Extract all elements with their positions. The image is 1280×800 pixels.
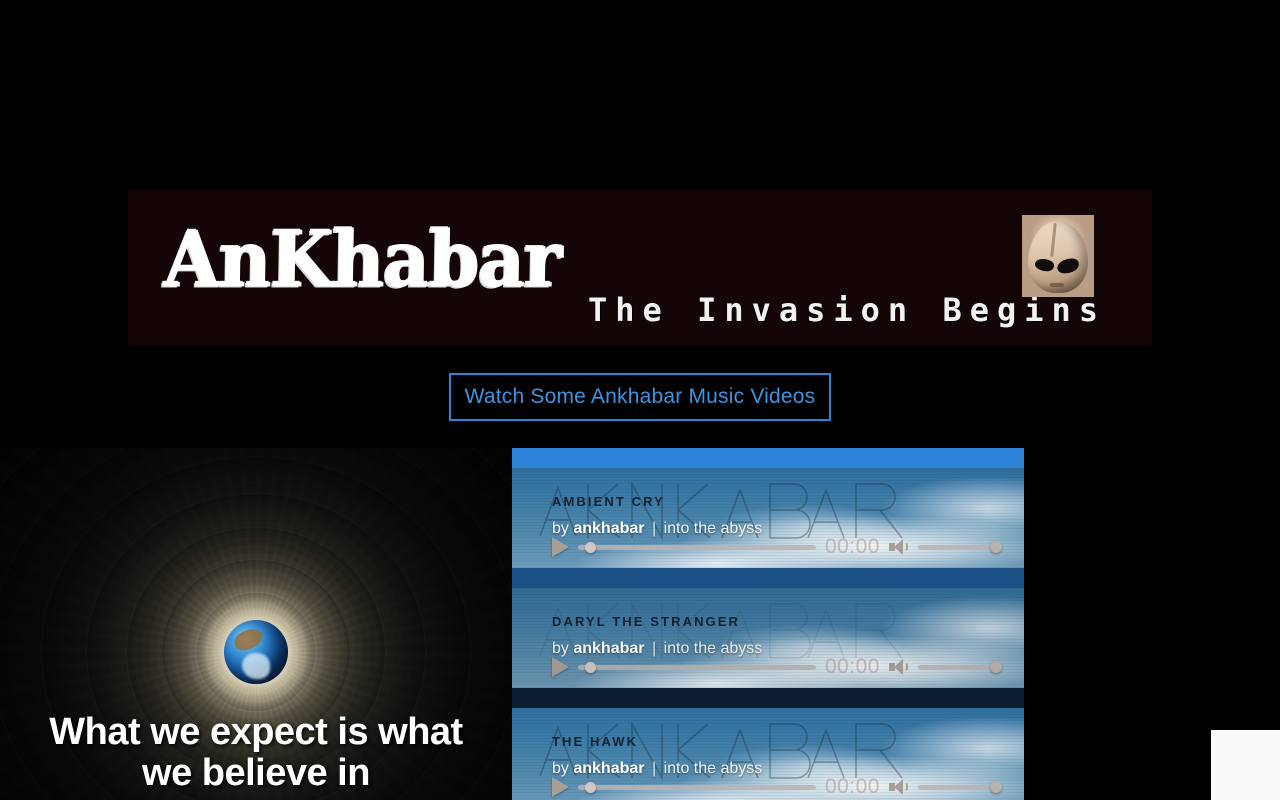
volume-rail: [918, 545, 996, 550]
player-controls: 00:00: [552, 774, 1002, 800]
time-display: 00:00: [825, 655, 880, 679]
volume-slider[interactable]: [918, 659, 1002, 675]
player-controls: 00:00: [552, 534, 1002, 560]
volume-icon-cone: [894, 539, 903, 555]
seek-slider[interactable]: [578, 658, 816, 676]
watch-music-videos-label: Watch Some Ankhabar Music Videos: [465, 385, 816, 409]
player-card: AMBIENT CRY by ankhabar | into the abyss…: [512, 448, 1024, 568]
volume-icon-wave: [904, 783, 908, 791]
music-player-list: AMBIENT CRY by ankhabar | into the abyss…: [512, 448, 1024, 800]
volume-knob[interactable]: [990, 541, 1002, 553]
player-body: THE HAWK by ankhabar | into the abyss 00…: [512, 708, 1024, 800]
volume-rail: [918, 665, 996, 670]
player-body: DARYL THE STRANGER by ankhabar | into th…: [512, 588, 1024, 688]
play-icon[interactable]: [552, 777, 569, 797]
player-topbar: [512, 568, 1024, 588]
volume-icon-wave: [904, 543, 908, 551]
player-topbar: [512, 448, 1024, 468]
volume-icon-cone: [894, 779, 903, 795]
player-controls: 00:00: [552, 654, 1002, 680]
volume-icon[interactable]: [889, 778, 909, 796]
volume-knob[interactable]: [990, 781, 1002, 793]
watch-music-videos-button[interactable]: Watch Some Ankhabar Music Videos: [449, 373, 831, 421]
player-card: THE HAWK by ankhabar | into the abyss 00…: [512, 688, 1024, 800]
hero-caption: What we expect is what we believe in: [0, 712, 512, 794]
time-display: 00:00: [825, 775, 880, 799]
hero-caption-line-2: we believe in: [8, 753, 504, 794]
player-topbar: [512, 688, 1024, 708]
site-title: AnKhabar: [163, 212, 561, 304]
seek-rail: [578, 545, 816, 550]
volume-icon-cone: [894, 659, 903, 675]
play-icon[interactable]: [552, 657, 569, 677]
alien-face-icon: [1022, 215, 1094, 297]
player-body: AMBIENT CRY by ankhabar | into the abyss…: [512, 468, 1024, 568]
volume-icon[interactable]: [889, 538, 909, 556]
alien-head-shape: [1028, 221, 1088, 293]
volume-icon-wave: [904, 663, 908, 671]
seek-knob[interactable]: [585, 662, 596, 673]
seek-slider[interactable]: [578, 538, 816, 556]
time-display: 00:00: [825, 535, 880, 559]
volume-rail: [918, 785, 996, 790]
volume-icon[interactable]: [889, 658, 909, 676]
seek-knob[interactable]: [585, 782, 596, 793]
seek-knob[interactable]: [585, 542, 596, 553]
seek-slider[interactable]: [578, 778, 816, 796]
hero-image: What we expect is what we believe in: [0, 448, 512, 800]
volume-knob[interactable]: [990, 661, 1002, 673]
play-icon[interactable]: [552, 537, 569, 557]
track-title: AMBIENT CRY: [552, 494, 665, 509]
hero-caption-line-1: What we expect is what: [8, 712, 504, 753]
site-banner: AnKhabar The Invasion Begins: [128, 190, 1152, 345]
page-root: AnKhabar The Invasion Begins Watch Some …: [0, 0, 1280, 800]
alien-right-eye: [1056, 257, 1080, 275]
alien-mouth: [1050, 283, 1064, 287]
alien-crease: [1050, 223, 1057, 257]
track-title: THE HAWK: [552, 734, 638, 749]
volume-slider[interactable]: [918, 779, 1002, 795]
seek-rail: [578, 665, 816, 670]
player-card: DARYL THE STRANGER by ankhabar | into th…: [512, 568, 1024, 688]
seek-rail: [578, 785, 816, 790]
alien-left-eye: [1034, 257, 1056, 274]
track-title: DARYL THE STRANGER: [552, 614, 740, 629]
recaptcha-widget[interactable]: [1211, 730, 1280, 800]
earth-globe-icon: [224, 620, 288, 684]
volume-slider[interactable]: [918, 539, 1002, 555]
